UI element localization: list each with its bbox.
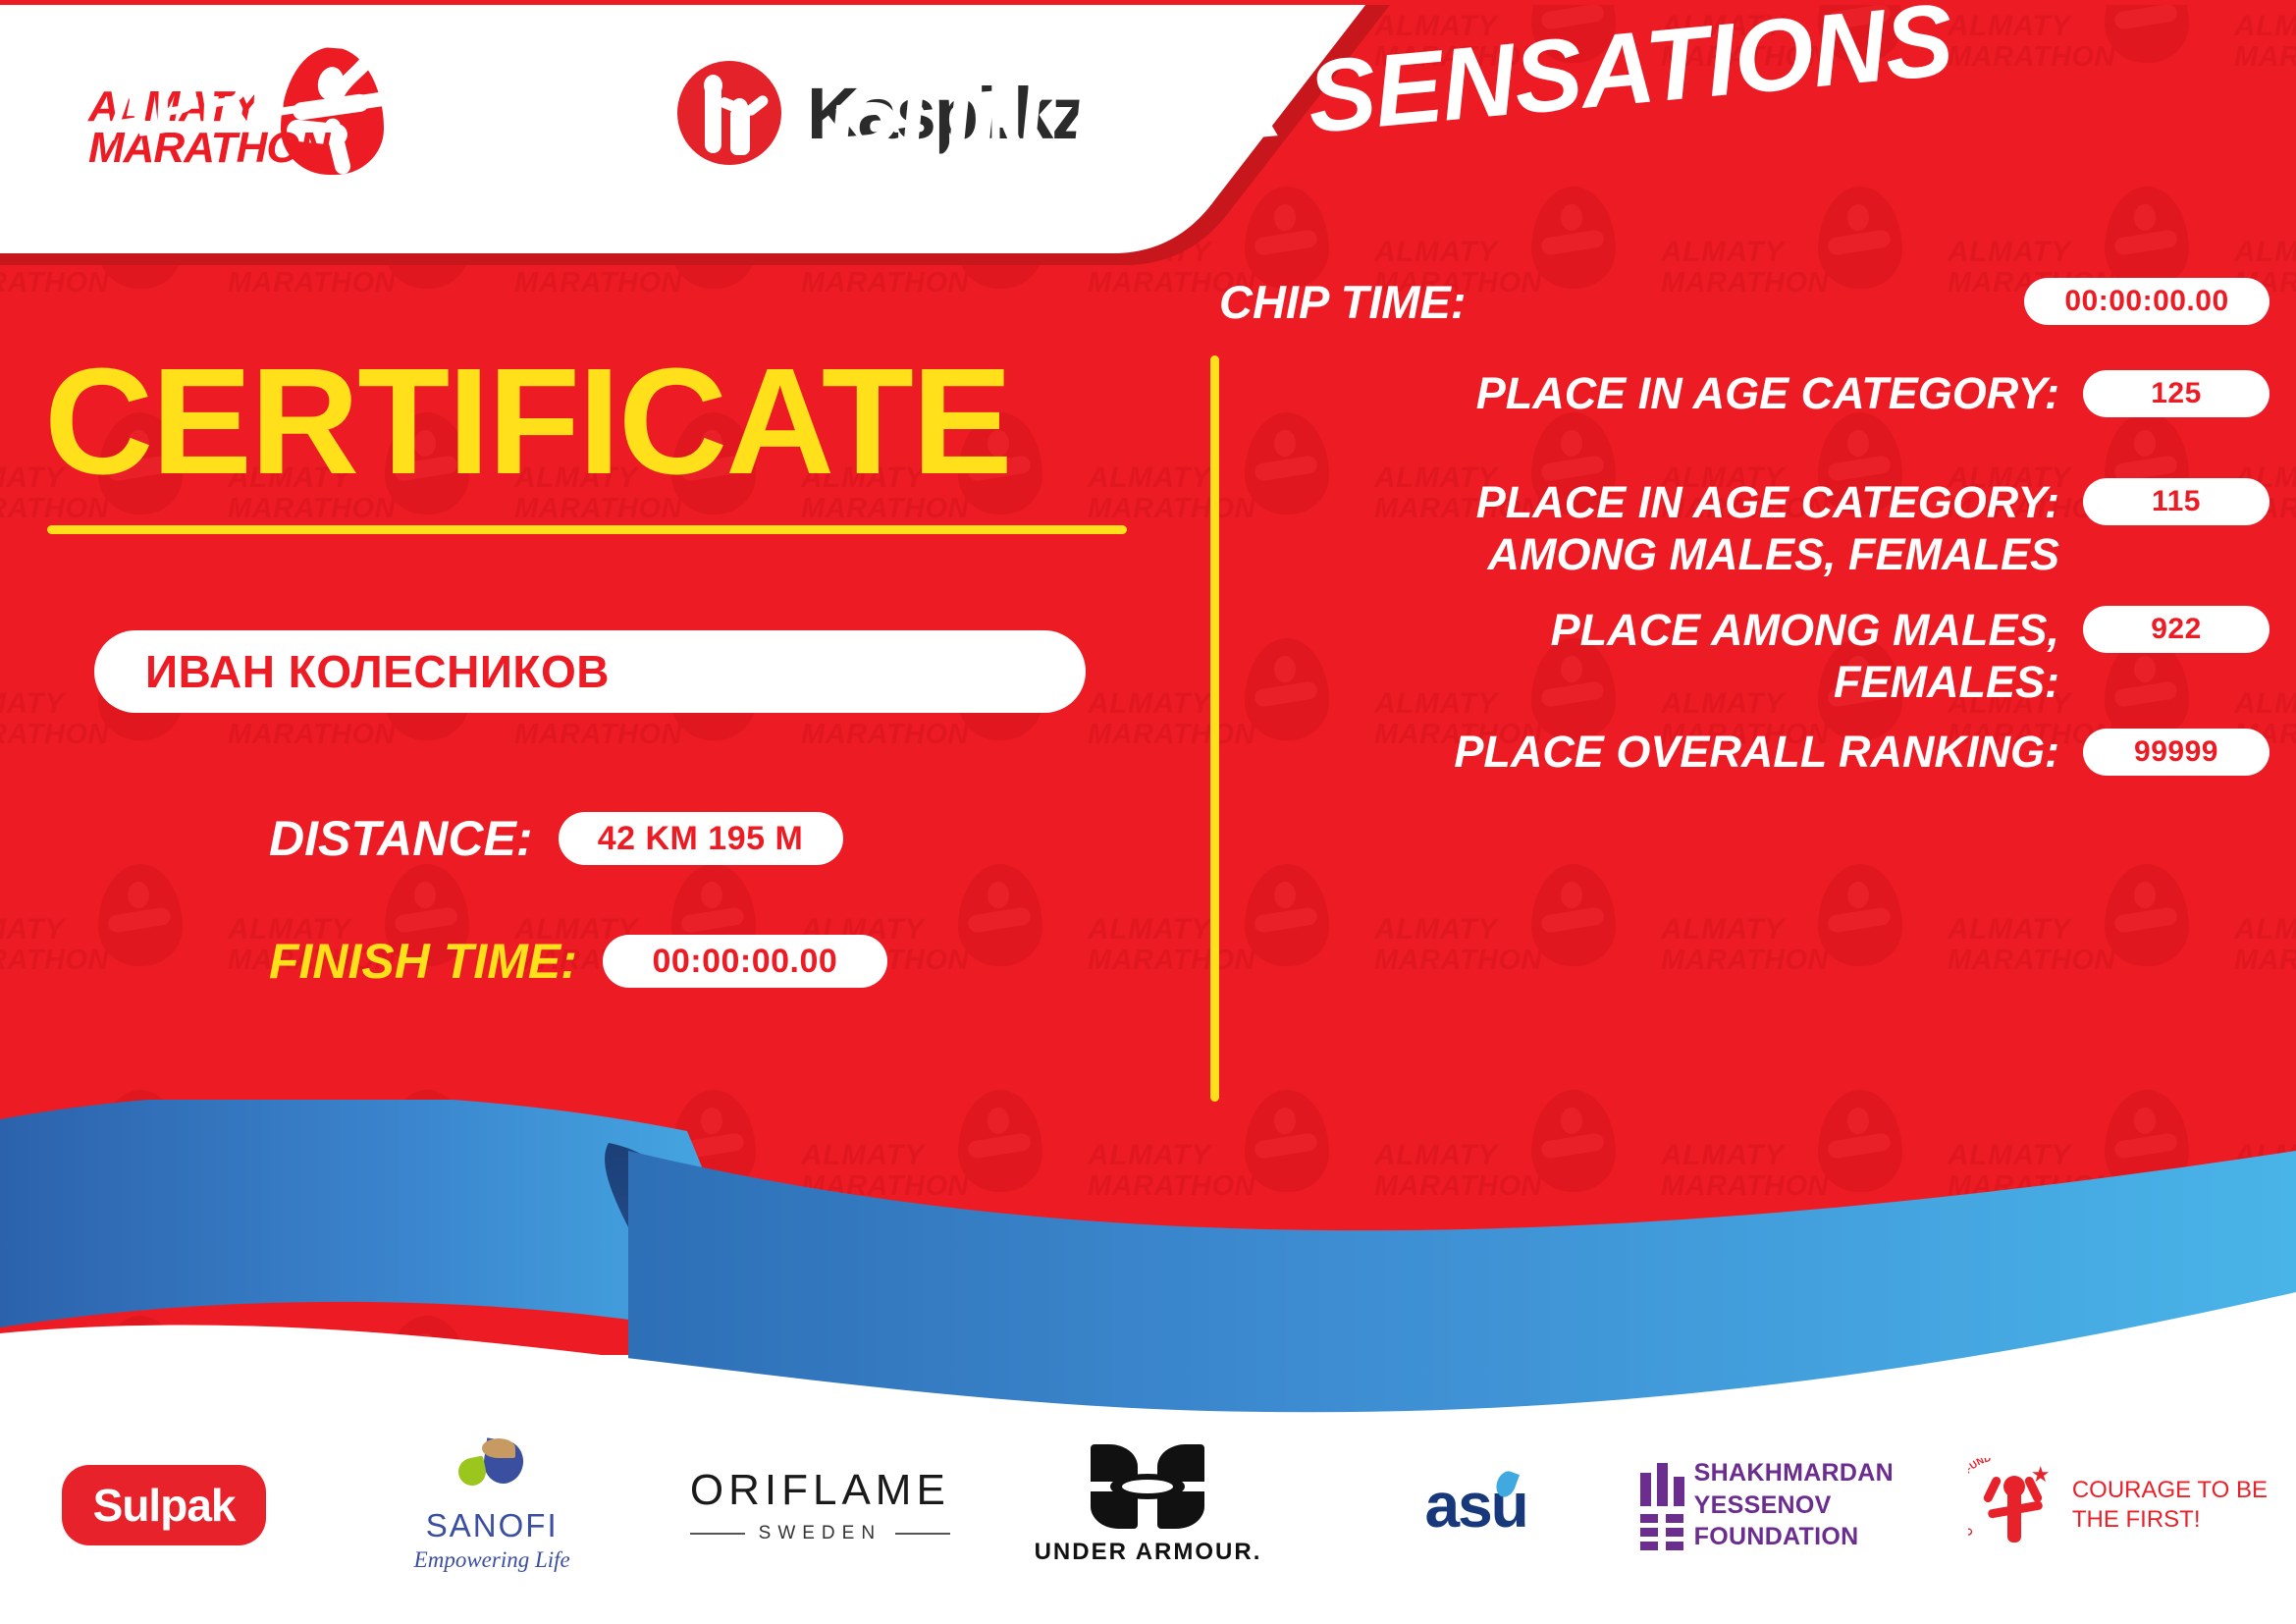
sponsor-sulpak: Sulpak — [0, 1465, 328, 1545]
distance-label: DISTANCE: — [269, 810, 533, 867]
participant-name-field: ИВАН КОЛЕСНИКОВ — [94, 630, 1086, 713]
place-age-category-label: PLACE IN AGE CATEGORY: — [1219, 368, 2083, 418]
oriflame-rule-right — [895, 1533, 950, 1535]
place-age-category-value-pill: 125 — [2083, 370, 2269, 417]
chip-time-row: CHIP TIME: 00:00:00.00 — [1219, 276, 2269, 329]
place-age-category-gender-row: PLACE IN AGE CATEGORY: AMONG MALES, FEMA… — [1219, 476, 2269, 580]
place-among-gender-value: 922 — [2151, 613, 2202, 646]
vertical-divider — [1210, 355, 1219, 1102]
courage-fund-wordmark: COURAGE TO BE THE FIRST! — [2072, 1476, 2296, 1535]
place-age-category-gender-value-pill: 115 — [2083, 478, 2269, 525]
star-icon: ★ — [2031, 1464, 2051, 1486]
sanofi-logo: SANOFI Empowering Life — [414, 1438, 570, 1573]
place-age-category-gender-value: 115 — [2152, 485, 2201, 518]
courage-fund-logo: CORPORATE FUND ★ COURAGE TO BE THE FIRST… — [1968, 1458, 2296, 1552]
title-underline — [47, 525, 1127, 534]
under-armour-logo: UNDER ARMOUR. — [1035, 1444, 1262, 1566]
top-hairline — [0, 0, 2296, 5]
sponsor-asu: asu — [1312, 1469, 1640, 1542]
event-day: 21 — [311, 2, 464, 125]
place-overall-value: 99999 — [2134, 735, 2218, 769]
oriflame-subline: SWEDEN — [690, 1523, 950, 1544]
asu-logo: asu — [1424, 1469, 1526, 1542]
place-age-category-value: 125 — [2151, 377, 2202, 410]
oriflame-wordmark: ORIFLAME — [690, 1466, 950, 1515]
sponsor-bar: Sulpak SANOFI Empowering Life ORIFLAME S… — [0, 1422, 2296, 1589]
place-overall-row: PLACE OVERALL RANKING: 99999 — [1219, 727, 2269, 777]
finish-time-row: FINISH TIME: 00:00:00.00 — [269, 933, 887, 990]
oriflame-rule-left — [690, 1533, 745, 1535]
oriflame-logo: ORIFLAME SWEDEN — [690, 1466, 950, 1544]
certificate-canvas: ALMATYMARATHONALMATYMARATHONALMATYMARATH… — [0, 0, 2296, 1624]
distance-value: 42 KM 195 M — [598, 820, 804, 858]
sanofi-tagline: Empowering Life — [414, 1547, 570, 1573]
chip-time-label: CHIP TIME: — [1219, 276, 2024, 329]
yessenov-wordmark: SHAKHMARDAN YESSENOV FOUNDATION — [1694, 1457, 1968, 1553]
finish-time-value-pill: 00:00:00.00 — [603, 935, 887, 988]
sponsor-oriflame: ORIFLAME SWEDEN — [656, 1466, 984, 1544]
place-age-category-gender-label: PLACE IN AGE CATEGORY: AMONG MALES, FEMA… — [1219, 476, 2083, 580]
participant-name-value: ИВАН КОЛЕСНИКОВ — [145, 645, 610, 698]
oriflame-tagline: SWEDEN — [759, 1523, 881, 1544]
chip-time-value-pill: 00:00:00.00 — [2024, 278, 2269, 325]
place-among-gender-row: PLACE AMONG MALES, FEMALES: 922 — [1219, 604, 2269, 708]
place-among-gender-label: PLACE AMONG MALES, FEMALES: — [1219, 604, 2083, 708]
place-overall-label: PLACE OVERALL RANKING: — [1219, 727, 2083, 777]
sponsor-under-armour: UNDER ARMOUR. — [984, 1444, 1311, 1566]
sanofi-bird-icon — [456, 1438, 527, 1503]
under-armour-wordmark: UNDER ARMOUR. — [1035, 1539, 1262, 1566]
courage-fund-figure-icon: CORPORATE FUND ★ — [1968, 1458, 2058, 1552]
sponsor-yessenov-foundation: SHAKHMARDAN YESSENOV FOUNDATION — [1640, 1457, 1968, 1553]
sulpak-wordmark: Sulpak — [93, 1480, 236, 1531]
page-title: CERTIFICATE — [44, 346, 1011, 497]
chip-time-value: 00:00:00.00 — [2064, 285, 2228, 318]
distance-row: DISTANCE: 42 KM 195 M — [269, 810, 843, 867]
yessenov-bars-icon — [1640, 1463, 1673, 1547]
place-overall-value-pill: 99999 — [2083, 729, 2269, 776]
place-age-category-row: PLACE IN AGE CATEGORY: 125 — [1219, 368, 2269, 418]
distance-value-pill: 42 KM 195 M — [559, 812, 843, 865]
kaspi-family-icon — [677, 61, 781, 165]
under-armour-icon — [1091, 1444, 1204, 1529]
yessenov-logo: SHAKHMARDAN YESSENOV FOUNDATION — [1640, 1457, 1968, 1553]
sponsor-courage-fund: CORPORATE FUND ★ COURAGE TO BE THE FIRST… — [1968, 1458, 2296, 1552]
sanofi-wordmark: SANOFI — [426, 1507, 559, 1544]
place-among-gender-value-pill: 922 — [2083, 606, 2269, 653]
finish-time-value: 00:00:00.00 — [652, 943, 837, 981]
event-day-ordinal: st — [451, 0, 505, 43]
finish-time-label: FINISH TIME: — [269, 933, 577, 990]
sulpak-logo: Sulpak — [62, 1465, 267, 1545]
sponsor-sanofi: SANOFI Empowering Life — [328, 1438, 656, 1573]
